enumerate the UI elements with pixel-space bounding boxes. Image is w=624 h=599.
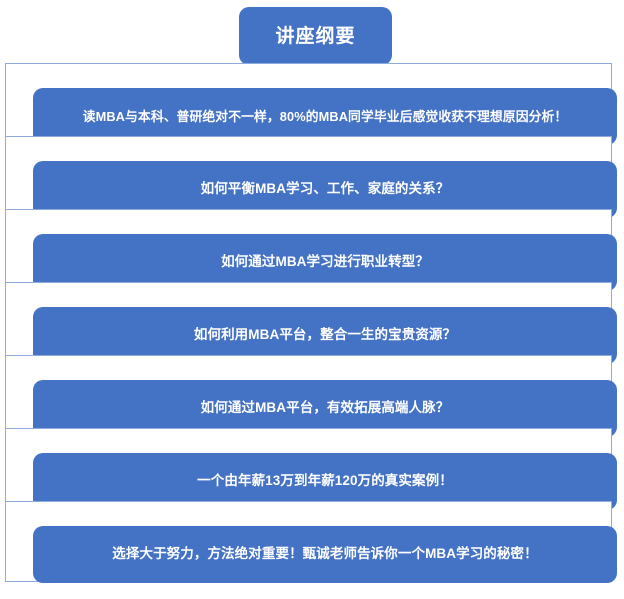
outline-row-label: 如何通过MBA学习进行职业转型？ (221, 254, 429, 271)
outline-row-label: 选择大于努力，方法绝对重要！甄诚老师告诉你一个MBA学习的秘密！ (112, 546, 537, 563)
outline-row-2[interactable]: 如何平衡MBA学习、工作、家庭的关系？ (0, 136, 624, 217)
outline-row-label: 如何利用MBA平台，整合一生的宝贵资源？ (194, 327, 456, 344)
outline-row-4[interactable]: 如何利用MBA平台，整合一生的宝贵资源？ (0, 282, 624, 363)
page-title: 讲座纲要 (275, 27, 355, 46)
outline-row-1[interactable]: 读MBA与本科、普研绝对不一样，80%的MBA同学毕业后感觉收获不理想原因分析！ (0, 63, 624, 144)
outline-row-3[interactable]: 如何通过MBA学习进行职业转型？ (0, 209, 624, 290)
outline-row-label: 一个由年薪13万到年薪120万的真实案例！ (197, 473, 453, 490)
outline-row-label: 如何平衡MBA学习、工作、家庭的关系？ (201, 181, 450, 198)
outline-row-5[interactable]: 如何通过MBA平台，有效拓展高端人脉？ (0, 355, 624, 436)
outline-row-bar[interactable]: 选择大于努力，方法绝对重要！甄诚老师告诉你一个MBA学习的秘密！ (33, 526, 617, 583)
outline-row-6[interactable]: 一个由年薪13万到年薪120万的真实案例！ (0, 428, 624, 509)
slide-title-pill: 讲座纲要 (239, 7, 392, 65)
outline-row-7[interactable]: 选择大于努力，方法绝对重要！甄诚老师告诉你一个MBA学习的秘密！ (0, 501, 624, 582)
outline-row-label: 读MBA与本科、普研绝对不一样，80%的MBA同学毕业后感觉收获不理想原因分析！ (83, 109, 568, 125)
lecture-outline-slide: 讲座纲要 读MBA与本科、普研绝对不一样，80%的MBA同学毕业后感觉收获不理想… (0, 0, 624, 599)
outline-row-label: 如何通过MBA平台，有效拓展高端人脉？ (201, 400, 450, 417)
